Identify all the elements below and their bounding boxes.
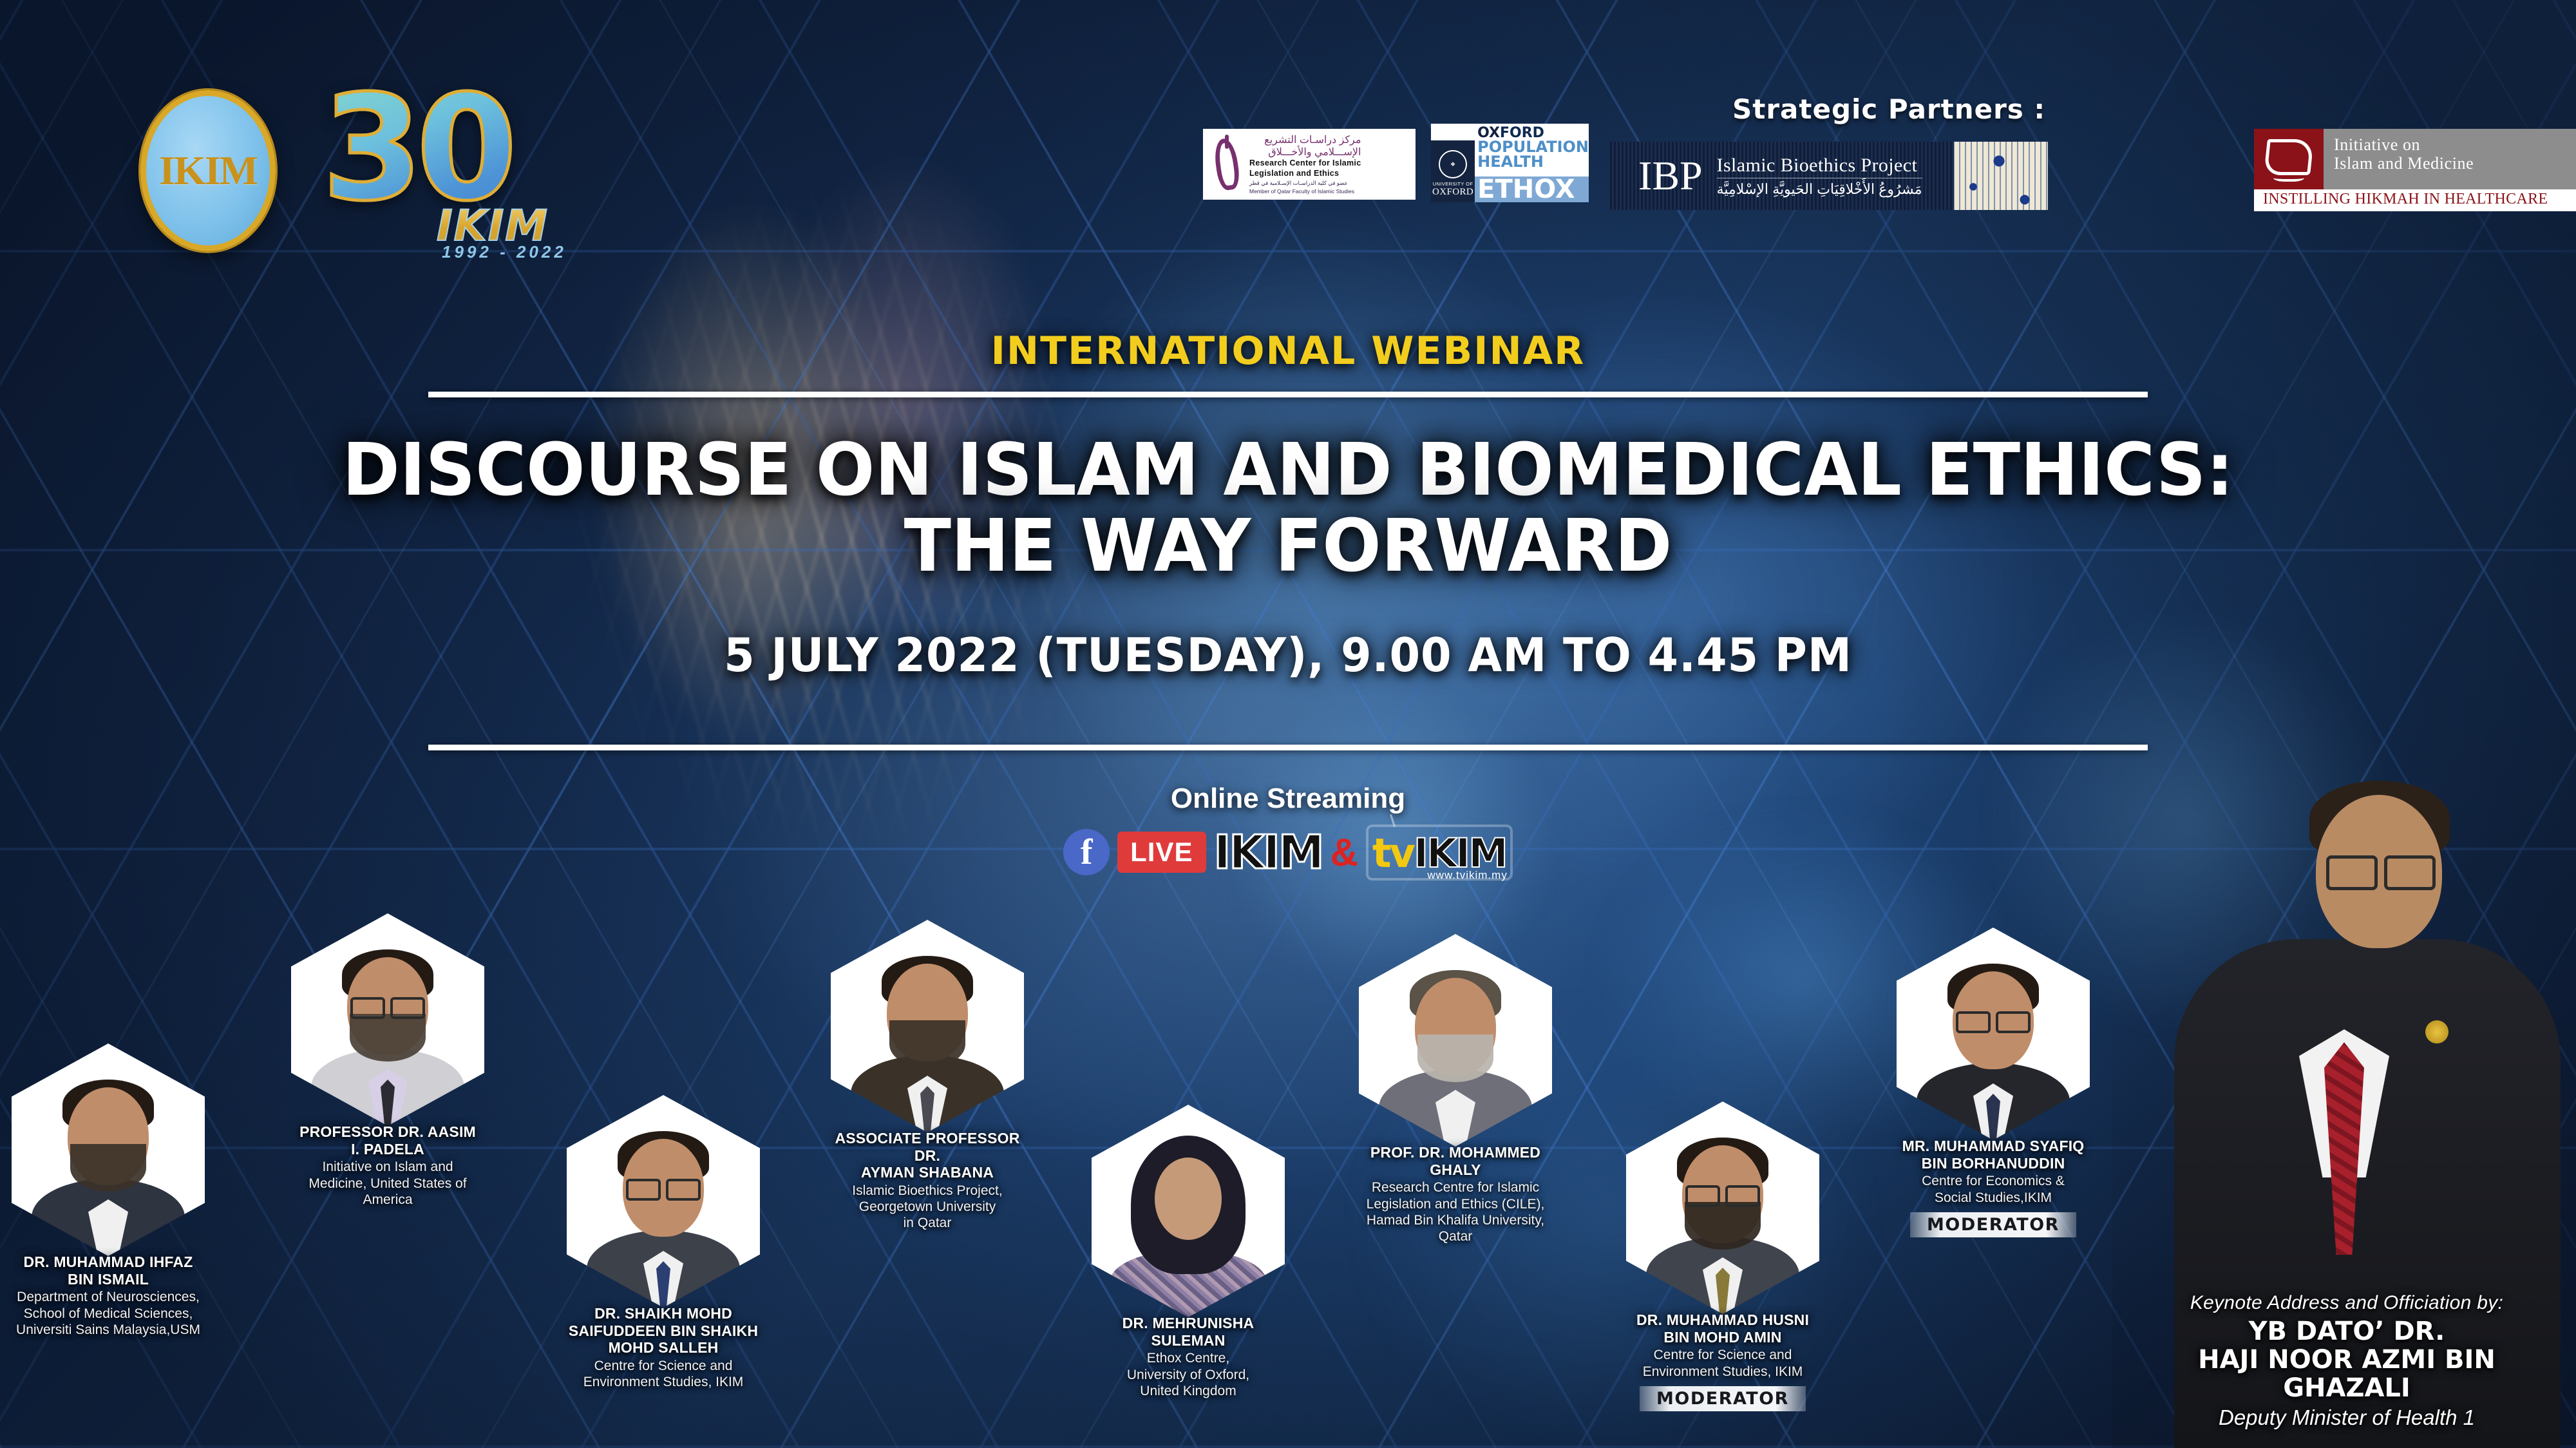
speaker-portrait <box>291 913 484 1126</box>
health-word: HEALTH <box>1475 155 1589 169</box>
moderator-portrait <box>1897 928 2090 1140</box>
title-rule-top <box>428 392 2148 397</box>
speaker-card: DR. MEHRUNISHASULEMAN Ethox Centre,Unive… <box>1092 1105 1285 1399</box>
speaker-card: PROFESSOR DR. AASIMI. PADELA Initiative … <box>291 913 484 1208</box>
iim-hikmah-calligraphy-icon <box>2254 129 2324 189</box>
keynote-glasses-icon <box>2326 855 2436 884</box>
title-line-2: THE WAY FORWARD <box>52 509 2524 585</box>
speaker-affiliation: Islamic Bioethics Project,Georgetown Uni… <box>831 1183 1024 1232</box>
speaker-card: PROF. DR. MOHAMMED GHALY Research Centre… <box>1359 934 1552 1244</box>
logo-cile: مركز دراسـات التشريع الإســـلامي والأخــ… <box>1203 129 1416 200</box>
strategic-partners-label: Strategic Partners : <box>1732 93 2045 125</box>
speaker-affiliation: Initiative on Islam andMedicine, United … <box>291 1159 484 1208</box>
event-datetime: 5 JULY 2022 (TUESDAY), 9.00 AM TO 4.45 P… <box>64 628 2512 682</box>
moderator-name: DR. MUHAMMAD HUSNIBIN MOHD AMIN <box>1626 1311 1819 1346</box>
cile-calligraphy-icon <box>1209 133 1244 195</box>
ampersand-separator: & <box>1331 830 1358 875</box>
speaker-portrait <box>12 1043 205 1256</box>
speaker-portrait <box>831 920 1024 1132</box>
moderator-card: DR. MUHAMMAD HUSNIBIN MOHD AMIN Centre f… <box>1626 1101 1819 1411</box>
speaker-portrait <box>1359 934 1552 1147</box>
logo-oxford-ethox: ❖ UNIVERSITY OF OXFORD OXFORD POPULATION… <box>1431 124 1589 202</box>
speaker-affiliation: Department of Neurosciences,School of Me… <box>12 1289 205 1338</box>
tv-url: www.tvikim.my <box>1427 869 1507 882</box>
speaker-card: DR. MUHAMMAD IHFAZBIN ISMAIL Department … <box>12 1043 205 1338</box>
cile-arabic-small: عضو في كلية الدراسـات الإسـلامية في قطر <box>1249 180 1361 187</box>
speaker-affiliation: Centre for Science andEnvironment Studie… <box>567 1358 760 1390</box>
page-title: DISCOURSE ON ISLAM AND BIOMEDICAL ETHICS… <box>52 433 2524 584</box>
cile-arabic-line2: الإســـلامي والأخـــلاق <box>1249 146 1361 158</box>
oxford-wordmark: OXFORD <box>1432 187 1473 198</box>
ibp-monogram: IBP <box>1638 155 1703 196</box>
iim-name-line2: Islam and Medicine <box>2334 154 2568 173</box>
streaming-channels: f LIVE IKIM & tv IKIM www.tvikim.my <box>1030 824 1546 880</box>
oxford-crest-icon: ❖ <box>1439 150 1467 178</box>
ibp-arabic-name: مَشرُوعُ الأَخْلاقِيَاتِ الحَيويَّةِ الإ… <box>1717 181 1922 198</box>
ikim-seal-initials: IKIM <box>159 150 257 191</box>
moderator-affiliation: Centre for Science andEnvironment Studie… <box>1626 1347 1819 1379</box>
speaker-portrait <box>1092 1105 1285 1317</box>
keynote-name: YB DATO’ DR.HAJI NOOR AZMI BIN GHAZALI <box>2141 1317 2553 1402</box>
tvikim-logo[interactable]: tv IKIM www.tvikim.my <box>1366 824 1513 881</box>
webinar-poster: IKIM 30 IKIM 1992 - 2022 Strategic Partn… <box>0 0 2576 1448</box>
iim-tagline: INSTILLING HIKMAH IN HEALTHCARE <box>2254 189 2576 211</box>
moderator-badge: MODERATOR <box>1640 1386 1806 1411</box>
speaker-portrait <box>567 1095 760 1308</box>
iim-name-line1: Initiative on <box>2334 135 2568 154</box>
speaker-affiliation: Ethox Centre,University of Oxford,United… <box>1092 1350 1285 1399</box>
cile-arabic-line1: مركز دراسـات التشريع <box>1249 134 1361 146</box>
ethox-word: ETHOX <box>1475 176 1589 202</box>
keynote-speaker-block: Keynote Address and Officiation by: YB D… <box>2112 733 2576 1448</box>
live-badge: LIVE <box>1117 832 1206 873</box>
oxford-university-of: UNIVERSITY OF <box>1433 181 1473 187</box>
cile-english-line2: Legislation and Ethics <box>1249 169 1361 179</box>
oxford-university-block: ❖ UNIVERSITY OF OXFORD <box>1431 140 1475 202</box>
ikim-seal-logo: IKIM <box>140 90 276 251</box>
anniversary-number: 30 <box>322 84 567 214</box>
facebook-icon[interactable]: f <box>1063 829 1110 875</box>
ibp-english-name: Islamic Bioethics Project <box>1717 155 1922 178</box>
keynote-role: Deputy Minister of Health 1 <box>2141 1405 2553 1430</box>
cile-english-small: Member of Qatar Faculty of Islamic Studi… <box>1249 188 1361 195</box>
title-line-1: DISCOURSE ON ISLAM AND BIOMEDICAL ETHICS… <box>52 433 2524 509</box>
speaker-affiliation: Research Centre for IslamicLegislation a… <box>1359 1179 1552 1244</box>
moderator-badge: MODERATOR <box>1910 1212 2076 1237</box>
tv-prefix: tv <box>1372 830 1414 877</box>
moderator-portrait <box>1626 1101 1819 1314</box>
title-rule-bottom <box>428 745 2148 750</box>
keynote-intro: Keynote Address and Officiation by: <box>2141 1292 2553 1314</box>
moderator-card: MR. MUHAMMAD SYAFIQBIN BORHANUDDIN Centr… <box>1897 928 2090 1237</box>
speaker-name: PROF. DR. MOHAMMED GHALY <box>1359 1144 1552 1178</box>
cile-english-line1: Research Center for Islamic <box>1249 158 1361 169</box>
anniversary-years: 1992 - 2022 <box>442 242 567 262</box>
speaker-name: ASSOCIATE PROFESSOR DR.AYMAN SHABANA <box>831 1130 1024 1181</box>
speaker-name: DR. SHAIKH MOHDSAIFUDDEEN BIN SHAIKHMOHD… <box>567 1305 760 1357</box>
moderator-name: MR. MUHAMMAD SYAFIQBIN BORHANUDDIN <box>1897 1138 2090 1172</box>
ikim-channel-wordmark: IKIM <box>1214 825 1323 879</box>
speaker-name: DR. MUHAMMAD IHFAZBIN ISMAIL <box>12 1253 205 1288</box>
speaker-card: DR. SHAIKH MOHDSAIFUDDEEN BIN SHAIKHMOHD… <box>567 1095 760 1390</box>
speaker-name: PROFESSOR DR. AASIMI. PADELA <box>291 1123 484 1157</box>
event-kicker: INTERNATIONAL WEBINAR <box>0 329 2576 374</box>
ibp-ornament-pattern <box>1954 142 2048 210</box>
speaker-card: ASSOCIATE PROFESSOR DR.AYMAN SHABANA Isl… <box>831 920 1024 1232</box>
anniversary-logo: 30 IKIM 1992 - 2022 <box>322 84 567 258</box>
logo-initiative-islam-medicine: Initiative on Islam and Medicine INSTILL… <box>2254 129 2576 211</box>
logo-ibp: IBP Islamic Bioethics Project مَشرُوعُ ا… <box>1610 142 2048 210</box>
speaker-name: DR. MEHRUNISHASULEMAN <box>1092 1315 1285 1349</box>
moderator-affiliation: Centre for Economics &Social Studies,IKI… <box>1897 1173 2090 1205</box>
